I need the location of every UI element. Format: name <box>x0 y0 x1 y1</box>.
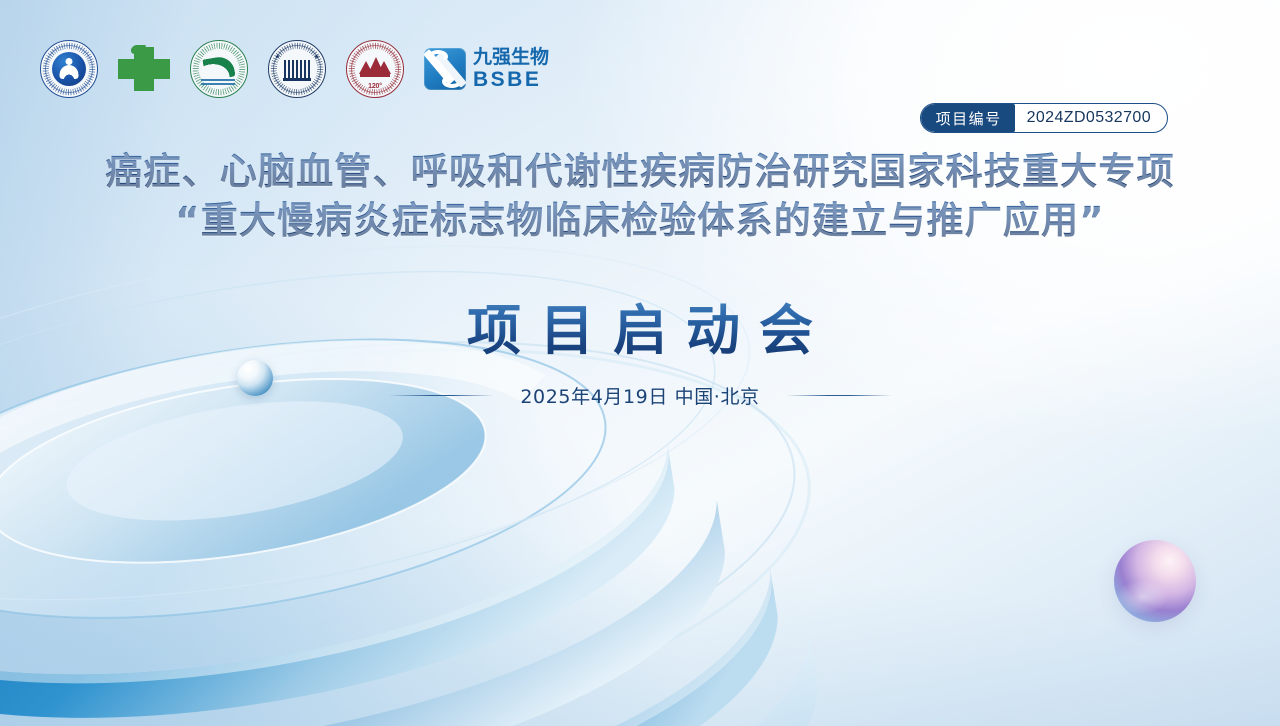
main-heading: 项目启动会 <box>0 286 1280 365</box>
date-location-text: 2025年4月19日 中国·北京 <box>520 382 759 409</box>
date-location-row: 2025年4月19日 中国·北京 <box>0 382 1280 409</box>
project-number-label: 项目编号 <box>921 104 1015 132</box>
bsbe-corporate-logo: 九强生物 BSBE <box>424 48 549 90</box>
bsbe-chinese-name: 九强生物 <box>473 48 549 67</box>
anniversary-label: 120° <box>368 83 382 90</box>
decorative-rule-right <box>786 395 892 396</box>
shandong-university-seal-icon: 120° <box>346 40 404 98</box>
project-number-badge: 项目编号 2024ZD0532700 <box>920 103 1168 133</box>
violet-gradient-sphere-icon <box>1114 540 1196 622</box>
project-number-value: 2024ZD0532700 <box>1015 104 1167 132</box>
program-title-line-2: “重大慢病炎症标志物临床检验体系的建立与推广应用” <box>0 195 1280 248</box>
navy-university-seal-icon <box>268 40 326 98</box>
bsbe-english-name: BSBE <box>473 69 549 90</box>
program-title-line-1: 癌症、心脑血管、呼吸和代谢性疾病防治研究国家科技重大专项 <box>0 148 1280 195</box>
decorative-rule-left <box>388 395 494 396</box>
cams-pumc-seal-icon <box>40 40 98 98</box>
title-block: 癌症、心脑血管、呼吸和代谢性疾病防治研究国家科技重大专项 “重大慢病炎症标志物临… <box>0 148 1280 248</box>
bsbe-mark-icon <box>424 48 466 90</box>
blue-spiral-ribbon-graphic <box>0 305 900 726</box>
health-commission-cross-icon <box>118 43 170 95</box>
green-circular-seal-icon <box>190 40 248 98</box>
partner-logo-strip: 120° 九强生物 BSBE <box>40 38 549 100</box>
event-poster: 120° 九强生物 BSBE 项目编号 2024ZD0532700 癌症、心脑血… <box>0 0 1280 726</box>
